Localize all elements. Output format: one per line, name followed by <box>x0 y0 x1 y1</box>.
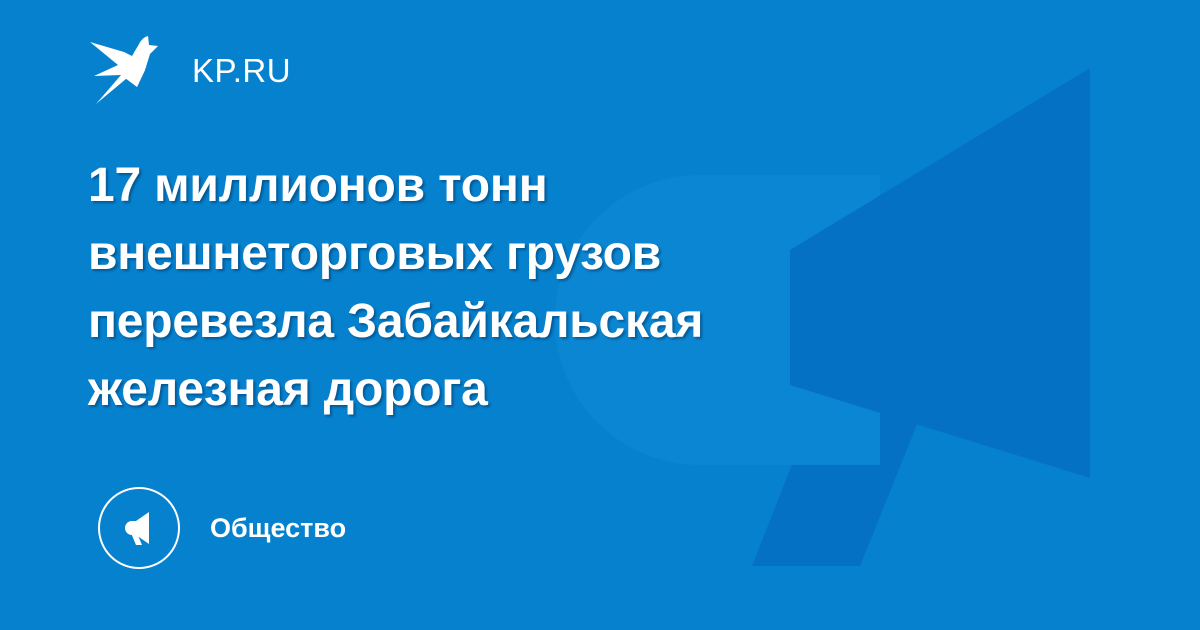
megaphone-icon <box>119 508 159 548</box>
brand-name: KP.RU <box>192 54 291 87</box>
category-icon-circle <box>98 487 180 569</box>
category-label: Общество <box>210 515 346 542</box>
category-badge[interactable]: Общество <box>98 487 346 569</box>
brand-logo[interactable]: KP.RU <box>88 30 291 110</box>
headline: 17 миллионов тонн внешнеторговых грузов … <box>88 152 888 424</box>
share-card: KP.RU 17 миллионов тонн внешнеторговых г… <box>0 0 1200 630</box>
swallow-bird-icon <box>88 32 170 108</box>
